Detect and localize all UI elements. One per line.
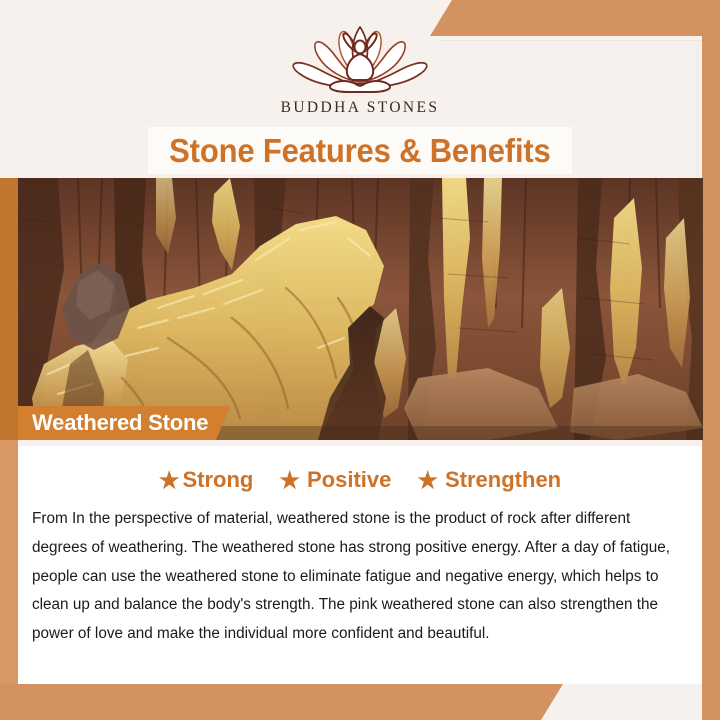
brand-wordmark: BUDDHA STONES: [281, 99, 440, 117]
star-icon: ★: [417, 469, 438, 492]
description-paragraph: From In the perspective of material, wea…: [32, 505, 688, 649]
frame-band-bottom: [0, 684, 563, 720]
feature-item-positive: ★ Positive: [279, 467, 391, 493]
page-title: Stone Features & Benefits: [169, 132, 550, 170]
feature-label: Strengthen: [445, 467, 561, 493]
feature-item-strengthen: ★ Strengthen: [417, 467, 561, 493]
feature-label: Positive: [307, 467, 391, 493]
feature-item-strong: ★ Strong: [159, 467, 254, 493]
lotus-meditation-icon: [285, 22, 435, 94]
content-card: ★ Strong ★ Positive ★ Strengthen From In…: [18, 446, 702, 684]
star-icon: ★: [279, 469, 300, 492]
title-banner: Stone Features & Benefits: [148, 127, 572, 174]
poster-page: BUDDHA STONES Stone Features & Benefits: [0, 0, 720, 720]
hero-image: [18, 178, 703, 440]
hero-caption-label: Weathered Stone: [18, 410, 208, 436]
frame-band-left-dark: [0, 178, 18, 440]
feature-list: ★ Strong ★ Positive ★ Strengthen: [18, 446, 702, 493]
hero-caption-badge: Weathered Stone: [18, 406, 230, 440]
brand-logo-block: BUDDHA STONES: [0, 22, 720, 117]
feature-label: Strong: [182, 467, 253, 493]
star-icon: ★: [159, 469, 180, 492]
